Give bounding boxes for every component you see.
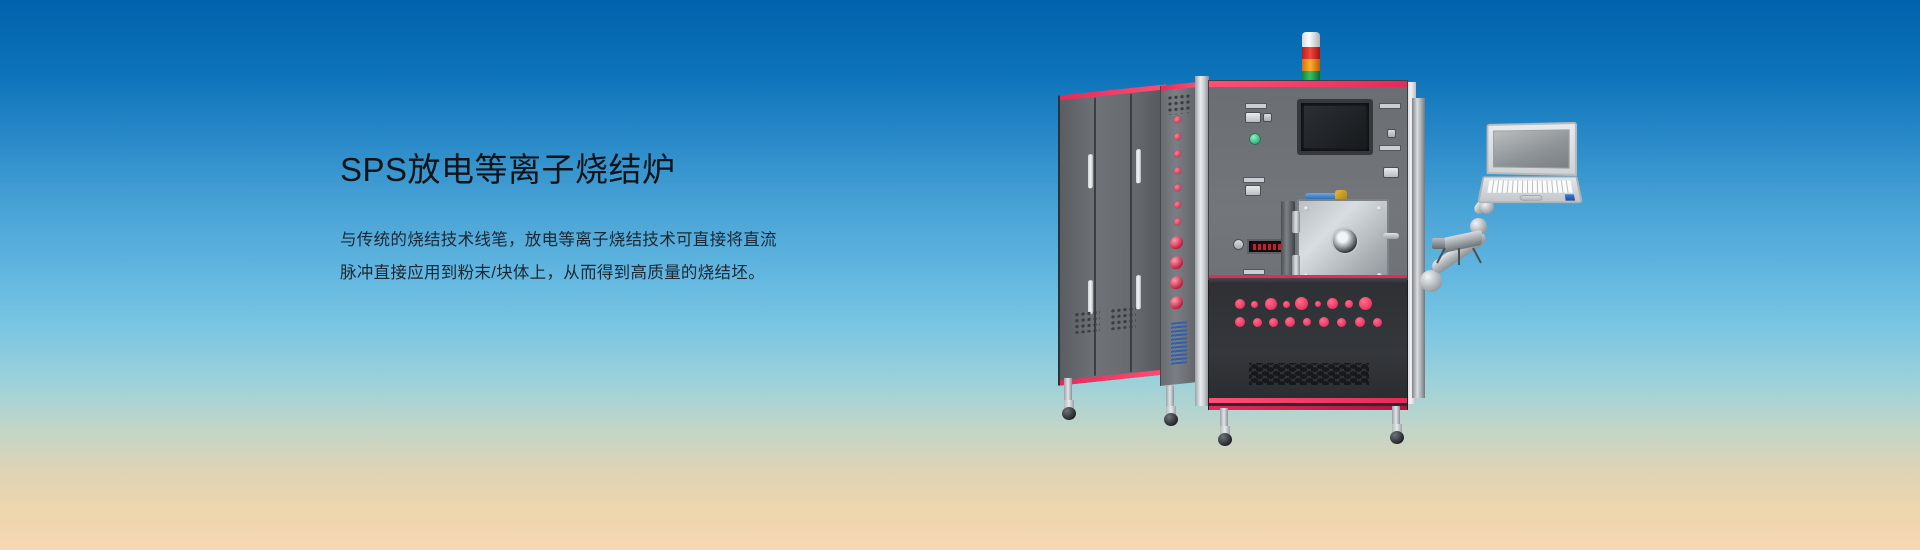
cabinet-handle-upper-right[interactable] bbox=[1136, 149, 1141, 184]
panel-push-button[interactable] bbox=[1263, 113, 1272, 122]
connector-port bbox=[1285, 317, 1295, 327]
cabinet-vent-right bbox=[1110, 305, 1136, 330]
laptop-trackpad[interactable] bbox=[1520, 195, 1543, 201]
monitor-arm-post bbox=[1412, 98, 1425, 398]
vacuum-chamber-door[interactable] bbox=[1297, 199, 1389, 285]
connector-port bbox=[1295, 297, 1308, 310]
hero-description-line-2: 脉冲直接应用到粉末/块体上，从而得到高质量的烧结坯。 bbox=[340, 257, 860, 290]
hero-banner: SPS放电等离子烧结炉 与传统的烧结技术线笔，放电等离子烧结技术可直接将直流 脉… bbox=[0, 0, 1920, 550]
caster-wheel-rear-left bbox=[1062, 400, 1076, 420]
connector-port bbox=[1345, 300, 1353, 308]
panel-label-tag bbox=[1243, 177, 1265, 183]
control-knob[interactable] bbox=[1170, 296, 1183, 310]
frame-pillar bbox=[1195, 76, 1209, 406]
status-led bbox=[1174, 201, 1181, 209]
caster-wheel-front-right bbox=[1390, 424, 1404, 444]
rear-cabinet bbox=[1058, 84, 1166, 385]
panel-legend-text bbox=[1171, 321, 1187, 365]
cabinet-door-seam-left bbox=[1094, 98, 1096, 376]
caster-wheel-front-left bbox=[1218, 426, 1232, 446]
page-title: SPS放电等离子烧结炉 bbox=[340, 148, 860, 192]
control-knob-column[interactable] bbox=[1170, 236, 1183, 317]
cabinet-door-seam-right bbox=[1130, 94, 1132, 372]
green-indicator-lamp bbox=[1249, 133, 1261, 145]
control-knob[interactable] bbox=[1170, 276, 1183, 290]
status-led bbox=[1174, 184, 1181, 192]
chamber-hinge-lower bbox=[1292, 255, 1300, 277]
cabinet-vent-left bbox=[1074, 309, 1100, 334]
panel-label-tag bbox=[1379, 145, 1401, 151]
signal-tower-cap bbox=[1302, 32, 1320, 48]
cabinet-handle-lower-right[interactable] bbox=[1136, 275, 1141, 310]
connector-port bbox=[1235, 317, 1245, 327]
connector-port bbox=[1337, 318, 1346, 327]
status-led bbox=[1174, 116, 1181, 124]
connector-port bbox=[1327, 298, 1338, 309]
door-accent-stripe bbox=[1209, 398, 1407, 403]
ventilation-grille bbox=[1249, 363, 1369, 385]
connector-port bbox=[1359, 297, 1372, 310]
product-illustration bbox=[1040, 18, 1660, 438]
door-accent-stripe-2 bbox=[1209, 406, 1407, 410]
lower-access-door[interactable] bbox=[1208, 280, 1408, 410]
status-led bbox=[1174, 218, 1181, 226]
caster-wheel-rear-right bbox=[1164, 406, 1178, 426]
panel-accent-stripe-top bbox=[1209, 81, 1407, 87]
control-knob[interactable] bbox=[1170, 256, 1183, 270]
panel-label-tag bbox=[1379, 103, 1401, 109]
status-led bbox=[1174, 167, 1181, 175]
status-led bbox=[1174, 133, 1181, 141]
selector-switch[interactable] bbox=[1383, 167, 1399, 178]
selector-switch[interactable] bbox=[1245, 185, 1261, 196]
operator-laptop[interactable] bbox=[1480, 123, 1576, 209]
camera-mount bbox=[1444, 248, 1474, 268]
laptop-base[interactable] bbox=[1477, 176, 1583, 203]
indicator-strip-panel bbox=[1160, 82, 1198, 386]
connector-port bbox=[1235, 299, 1245, 309]
laptop-screen[interactable] bbox=[1487, 122, 1577, 176]
chamber-bolt bbox=[1377, 206, 1382, 211]
strip-vent bbox=[1167, 93, 1191, 116]
connector-port bbox=[1253, 318, 1262, 327]
hero-text-block: SPS放电等离子烧结炉 与传统的烧结技术线笔，放电等离子烧结技术可直接将直流 脉… bbox=[340, 148, 860, 290]
inspection-camera bbox=[1432, 234, 1484, 268]
chamber-viewport-icon bbox=[1331, 227, 1359, 255]
chamber-hinge-upper bbox=[1292, 211, 1300, 233]
panel-label-tag bbox=[1245, 103, 1267, 109]
chamber-bolt bbox=[1304, 206, 1309, 211]
hero-description: 与传统的烧结技术线笔，放电等离子烧结技术可直接将直流 脉冲直接应用到粉末/块体上… bbox=[340, 224, 860, 290]
connector-port bbox=[1269, 318, 1278, 327]
reset-button[interactable] bbox=[1233, 239, 1244, 250]
connector-port bbox=[1303, 318, 1311, 326]
hero-description-line-1: 与传统的烧结技术线笔，放电等离子烧结技术可直接将直流 bbox=[340, 224, 860, 257]
cabinet-handle-upper-left[interactable] bbox=[1088, 154, 1093, 189]
laptop-badge-sticker bbox=[1565, 194, 1575, 200]
status-led-column bbox=[1174, 116, 1181, 236]
laptop-keyboard[interactable] bbox=[1487, 180, 1572, 192]
panel-push-button[interactable] bbox=[1387, 129, 1396, 138]
hmi-touchscreen[interactable] bbox=[1297, 99, 1373, 155]
connector-port bbox=[1373, 318, 1382, 327]
chamber-latch-handle[interactable] bbox=[1383, 233, 1399, 239]
connector-port bbox=[1355, 317, 1365, 327]
arm-base-joint[interactable] bbox=[1420, 270, 1442, 292]
control-knob[interactable] bbox=[1170, 236, 1183, 250]
connector-port bbox=[1265, 298, 1277, 310]
connector-port bbox=[1251, 301, 1258, 308]
door-lip bbox=[1209, 275, 1407, 284]
connector-port bbox=[1283, 301, 1290, 308]
connector-port-array bbox=[1235, 297, 1385, 331]
selector-switch[interactable] bbox=[1245, 112, 1261, 123]
connector-port bbox=[1315, 301, 1321, 307]
connector-port bbox=[1319, 317, 1329, 327]
status-led bbox=[1174, 150, 1181, 158]
